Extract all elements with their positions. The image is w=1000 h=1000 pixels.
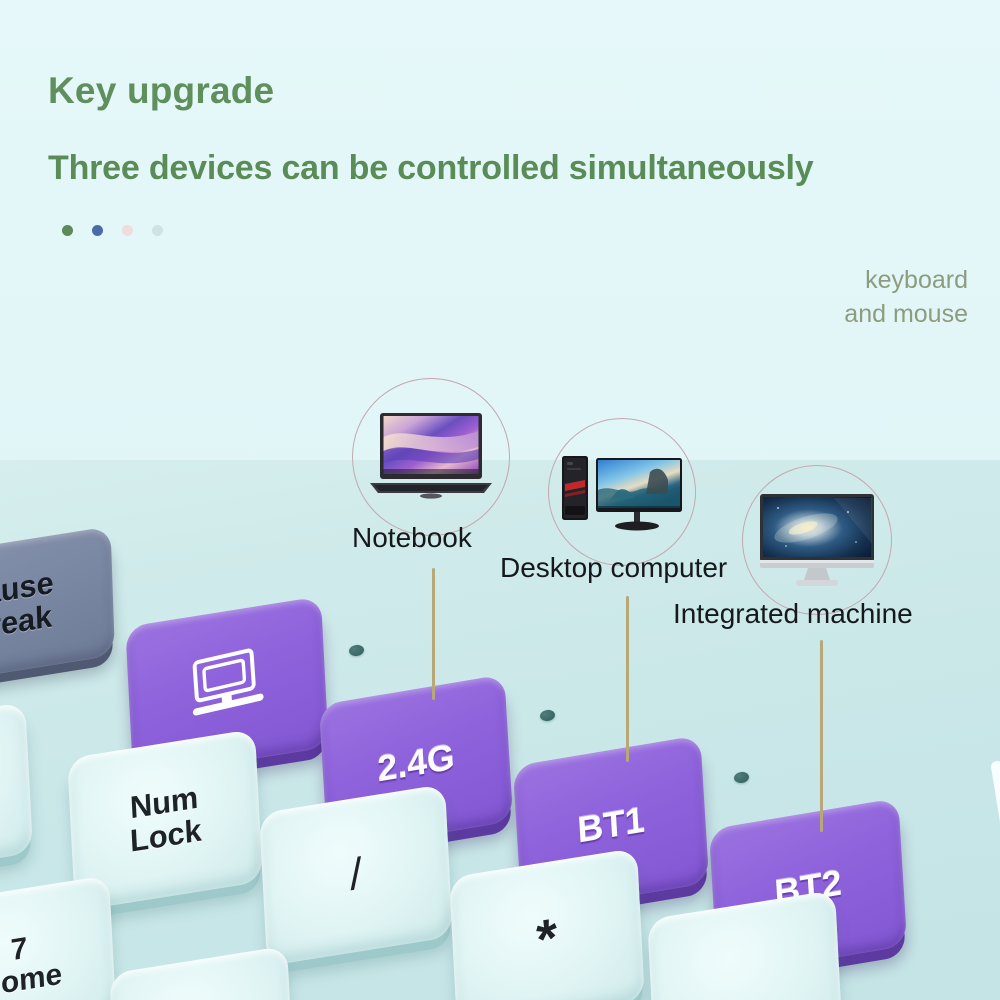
key-7-home-label: 7 Home	[0, 927, 63, 1000]
connector-line-notebook	[432, 568, 435, 700]
key-num-lock-line1: Num	[129, 780, 199, 826]
corner-note: keyboard and mouse	[844, 264, 968, 332]
headline-block: Key upgrade Three devices can be control…	[48, 72, 814, 236]
pagination-dot-1[interactable]	[62, 225, 73, 236]
page-title: Key upgrade	[48, 72, 814, 109]
key-asterisk-label: *	[535, 909, 559, 969]
key-slash-cap: /	[259, 784, 453, 966]
desktop-tower-monitor-icon	[558, 446, 686, 538]
corner-note-line-1: keyboard	[844, 264, 968, 298]
pagination-dot-3[interactable]	[122, 225, 133, 236]
key-slash[interactable]: /	[259, 784, 453, 966]
laptop-icon	[362, 407, 500, 507]
device-circle-notebook	[352, 378, 510, 536]
device-label-desktop: Desktop computer	[500, 552, 727, 584]
pagination-dots[interactable]	[48, 225, 814, 236]
connector-line-desktop	[626, 596, 629, 762]
corner-note-line-2: and mouse	[844, 298, 968, 332]
device-circle-desktop	[548, 418, 696, 566]
device-label-notebook: Notebook	[352, 522, 472, 554]
key-7-home-cap: 7 Home	[0, 875, 117, 1000]
key-7-home[interactable]: 7 Home	[0, 875, 117, 1000]
connector-line-aio	[820, 640, 823, 832]
key-pause-break-line1: Pause	[0, 565, 54, 615]
monitor-icon	[179, 641, 274, 734]
page-subtitle: Three devices can be controlled simultan…	[48, 151, 814, 187]
key-pause-break-label: Pause Break	[0, 567, 55, 647]
key-pause-break-line2: Break	[0, 598, 53, 647]
key-bt1-label: BT1	[576, 800, 645, 849]
device-label-aio: Integrated machine	[673, 598, 913, 630]
key-7-home-line2: Home	[0, 957, 63, 1000]
pagination-dot-2[interactable]	[92, 225, 103, 236]
all-in-one-imac-icon	[756, 490, 878, 590]
promo-stage: Key upgrade Three devices can be control…	[0, 0, 1000, 1000]
key-num-lock-line2: Lock	[129, 812, 202, 858]
key-slash-label: /	[349, 851, 364, 899]
key-24g-label: 2.4G	[376, 738, 455, 789]
pagination-dot-4[interactable]	[152, 225, 163, 236]
device-circle-aio	[742, 465, 892, 615]
key-num-lock-label: Num Lock	[128, 782, 203, 859]
key-7-home-line1: 7	[10, 931, 28, 967]
